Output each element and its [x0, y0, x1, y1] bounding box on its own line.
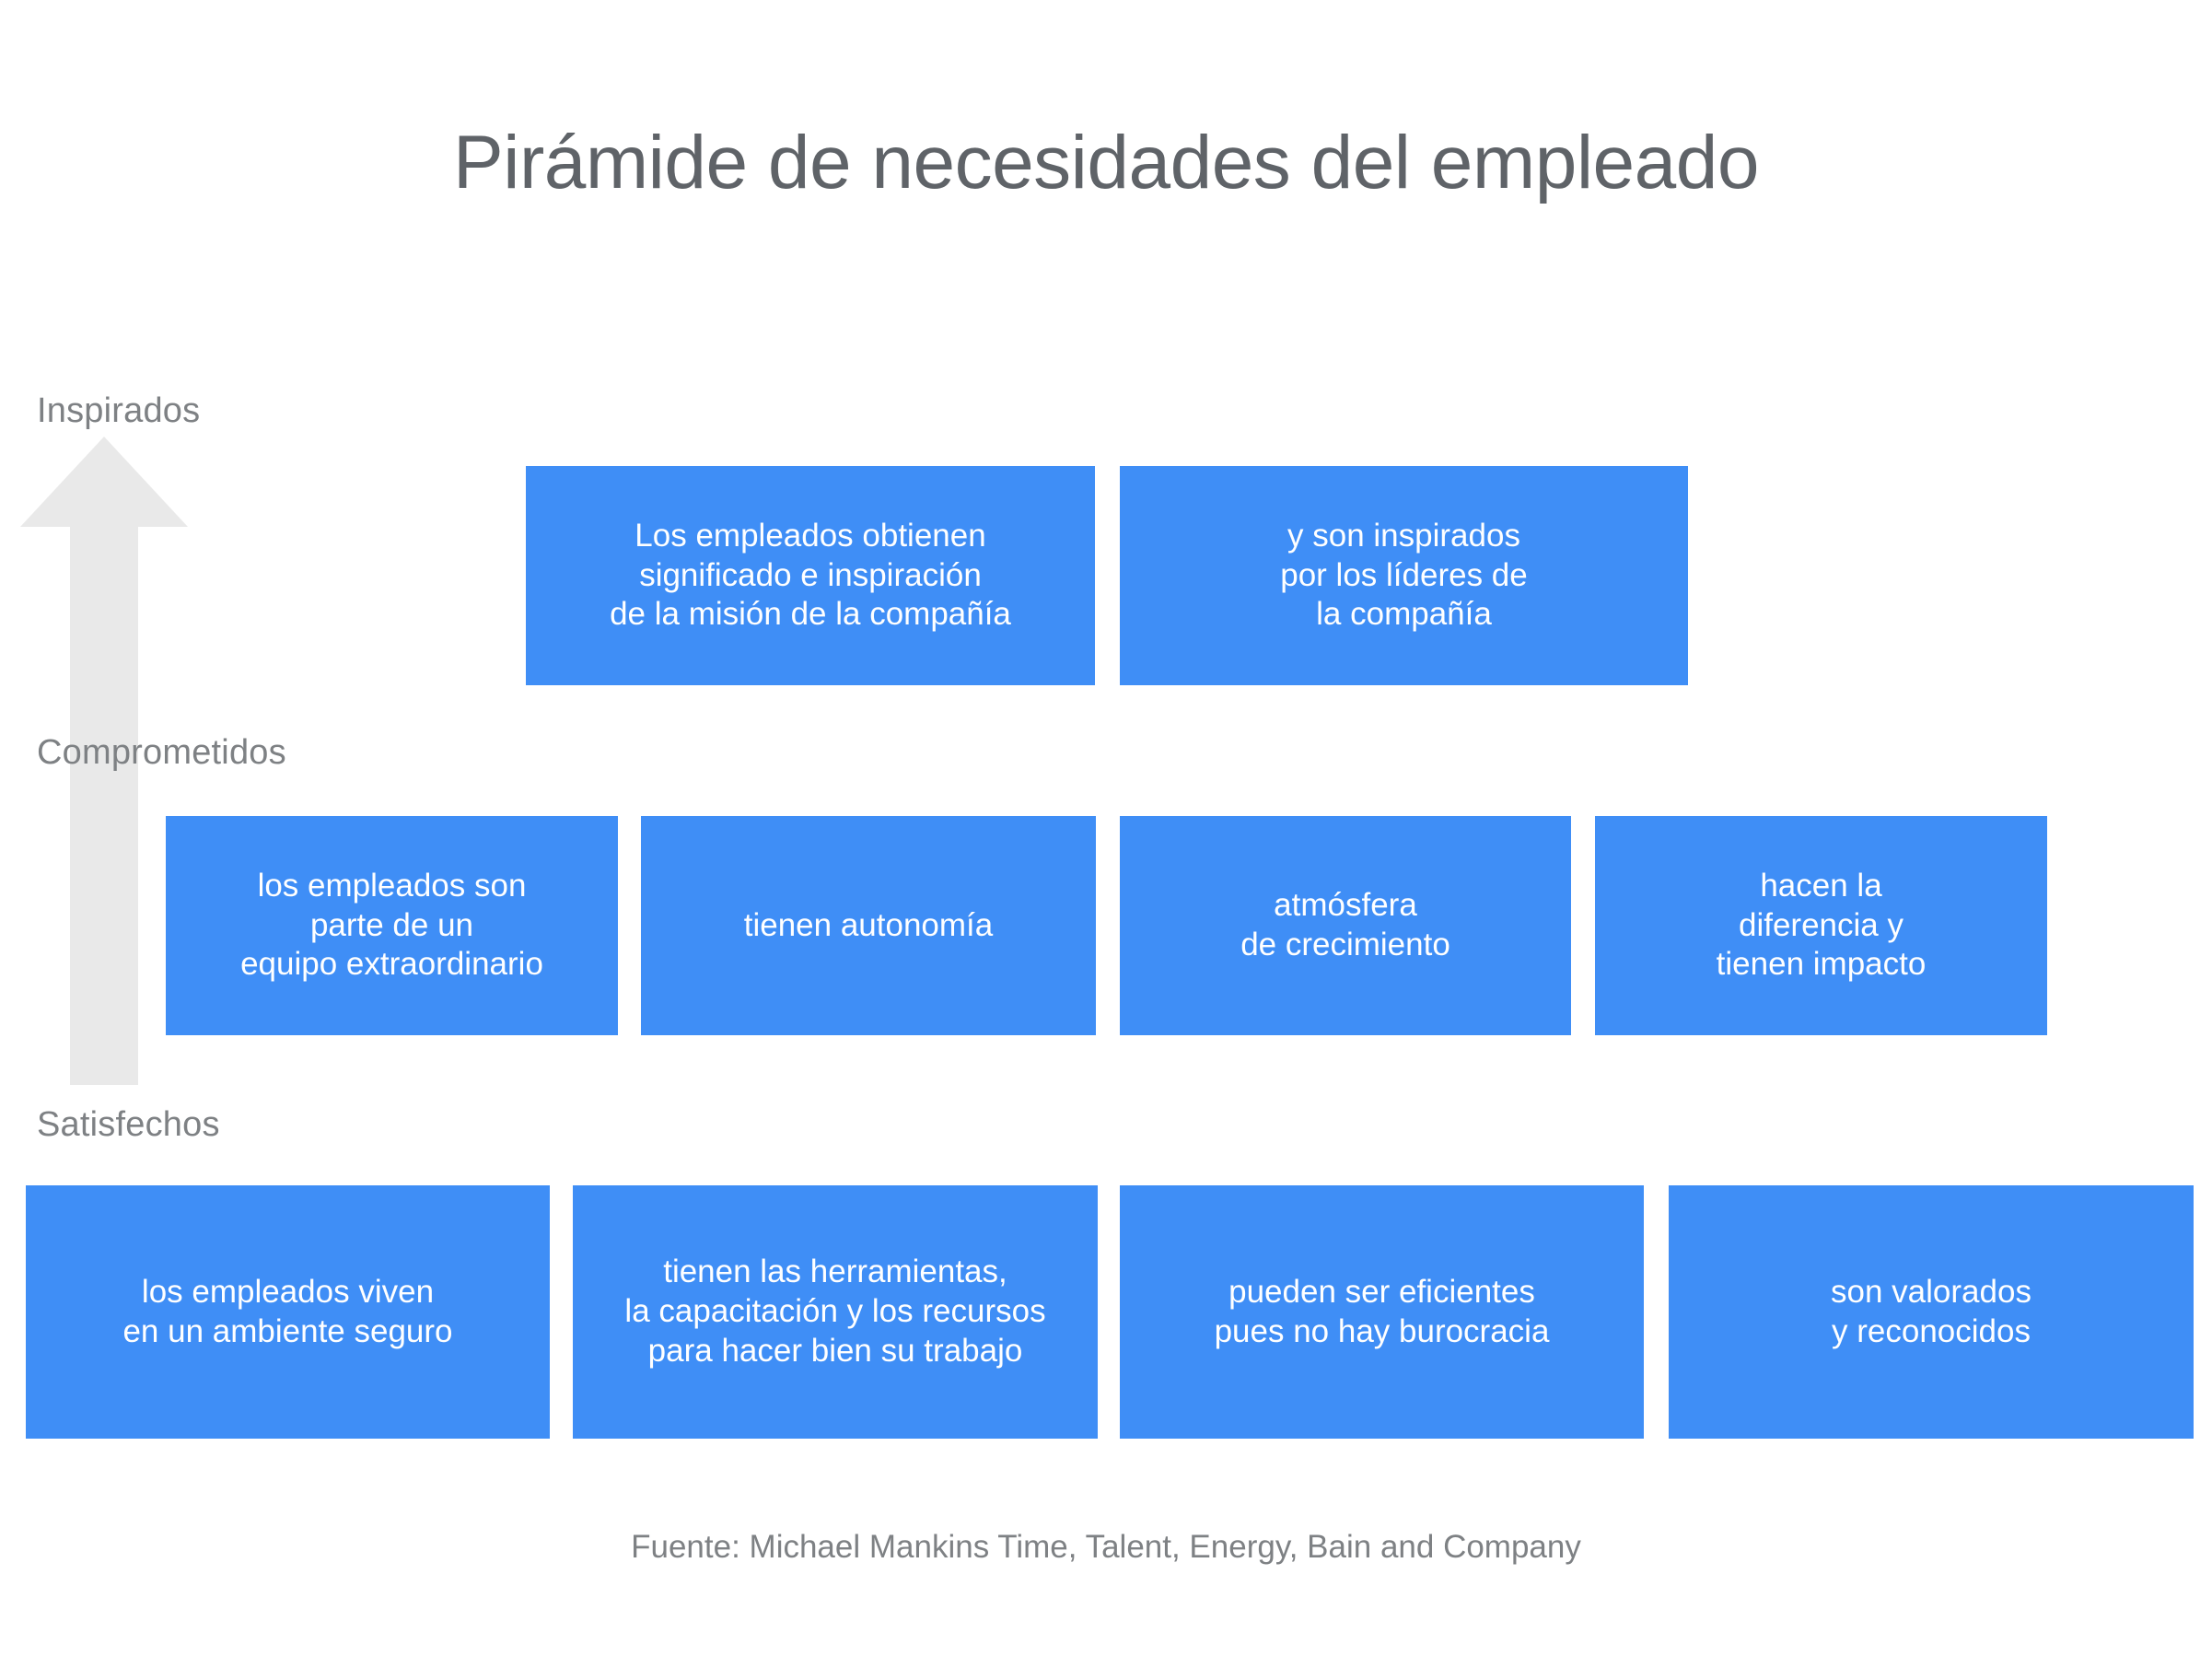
source-note: Fuente: Michael Mankins Time, Talent, En… — [0, 1529, 2212, 1566]
need-box-text: tienen las herramientas, la capacitación… — [624, 1253, 1045, 1370]
need-box[interactable]: los empleados viven en un ambiente segur… — [26, 1185, 550, 1439]
need-box-text: pueden ser eficientes pues no hay burocr… — [1215, 1273, 1550, 1351]
need-box-text: son valorados y reconocidos — [1831, 1273, 2032, 1351]
need-box-text: atmósfera de crecimiento — [1240, 886, 1450, 964]
need-box-text: y son inspirados por los líderes de la c… — [1280, 517, 1527, 635]
tier-label-comprometidos: Comprometidos — [37, 733, 286, 773]
need-box[interactable]: y son inspirados por los líderes de la c… — [1120, 466, 1688, 685]
slide-canvas: Pirámide de necesidades del empleado Ins… — [0, 0, 2212, 1656]
need-box[interactable]: tienen autonomía — [641, 816, 1096, 1035]
need-box[interactable]: Los empleados obtienen significado e ins… — [526, 466, 1095, 685]
need-box-text: los empleados son parte de un equipo ext… — [240, 867, 543, 985]
need-box-text: hacen la diferencia y tienen impacto — [1717, 867, 1927, 985]
need-box[interactable]: hacen la diferencia y tienen impacto — [1595, 816, 2047, 1035]
need-box[interactable]: pueden ser eficientes pues no hay burocr… — [1120, 1185, 1644, 1439]
tier-label-inspirados: Inspirados — [37, 391, 200, 431]
need-box-text: tienen autonomía — [744, 906, 993, 946]
need-box[interactable]: tienen las herramientas, la capacitación… — [573, 1185, 1098, 1439]
need-box[interactable]: son valorados y reconocidos — [1669, 1185, 2194, 1439]
need-box[interactable]: los empleados son parte de un equipo ext… — [166, 816, 618, 1035]
need-box[interactable]: atmósfera de crecimiento — [1120, 816, 1571, 1035]
need-box-text: los empleados viven en un ambiente segur… — [122, 1273, 452, 1351]
need-box-text: Los empleados obtienen significado e ins… — [610, 517, 1011, 635]
page-title: Pirámide de necesidades del empleado — [0, 123, 2212, 203]
tier-label-satisfechos: Satisfechos — [37, 1105, 220, 1145]
